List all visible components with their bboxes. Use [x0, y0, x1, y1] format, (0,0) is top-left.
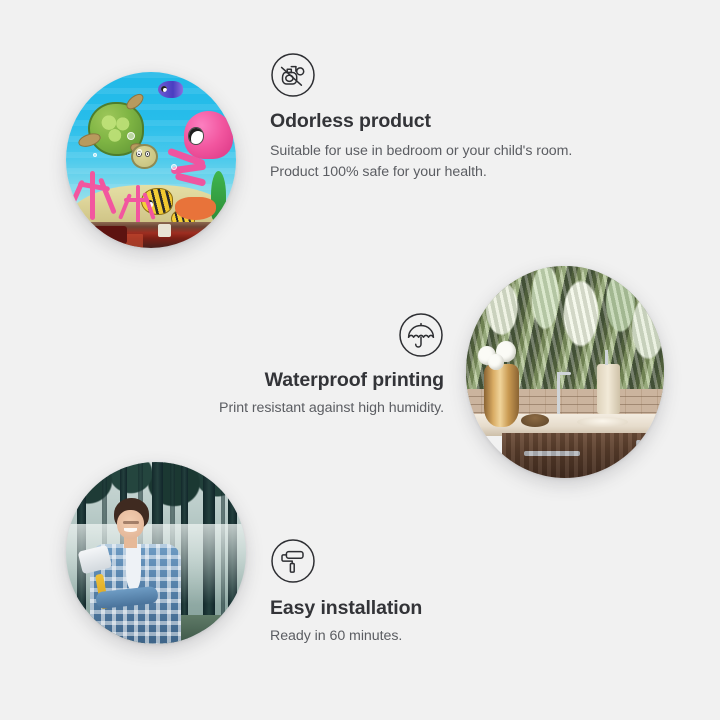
white-peonies — [476, 338, 527, 372]
drawer-handle — [524, 451, 579, 456]
turtle-illustration — [81, 100, 159, 170]
feature-title: Waterproof printing — [152, 369, 444, 392]
bubble — [171, 164, 177, 170]
face — [117, 510, 144, 539]
turtle-head — [131, 144, 158, 169]
chrome-faucet — [557, 372, 560, 414]
woman-forest-wallpaper-image — [66, 462, 246, 644]
octopus-tentacle — [175, 172, 206, 186]
underwater-cartoon-mural-image — [66, 72, 236, 248]
gold-vase — [484, 364, 520, 428]
coral-illustration — [68, 171, 119, 220]
sink-basin — [577, 417, 628, 428]
bathroom-tropical-wallpaper-image — [466, 266, 664, 478]
umbrella-icon — [398, 312, 444, 358]
bubble — [127, 132, 135, 140]
feature-installation: Easy installation Ready in 60 minutes. — [270, 538, 570, 647]
feature-title: Odorless product — [270, 110, 600, 133]
starfish-illustration — [175, 197, 216, 220]
feature-title: Easy installation — [270, 597, 570, 620]
cabinet-handle — [636, 440, 641, 469]
room-photo-strip — [66, 222, 236, 248]
coral-illustration — [117, 185, 158, 224]
no-perfume-icon — [270, 52, 316, 98]
feature-description: Ready in 60 minutes. — [270, 626, 570, 646]
vanity-cabinet — [502, 433, 664, 478]
feature-waterproof: Waterproof printing Print resistant agai… — [152, 312, 444, 419]
purple-fish-illustration — [158, 81, 184, 99]
feature-highlights-panel: Odorless product Suitable for use in bed… — [0, 0, 720, 720]
feature-description: Suitable for use in bedroom or your chil… — [270, 141, 600, 181]
soap-dispenser — [597, 364, 621, 415]
feature-odorless: Odorless product Suitable for use in bed… — [270, 52, 600, 182]
turtle-eye — [145, 151, 151, 157]
feature-description: Print resistant against high humidity. — [152, 398, 444, 418]
woman-with-paint-roller — [84, 498, 185, 644]
octopus-head — [184, 111, 233, 159]
paint-roller-icon — [270, 538, 316, 584]
